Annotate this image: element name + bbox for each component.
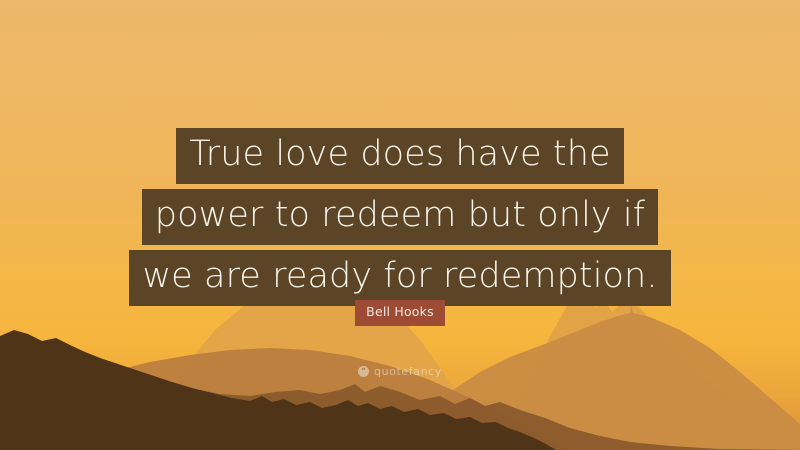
quote-line-1: True love does have the — [176, 128, 623, 184]
quote-text-block: True love does have the power to redeem … — [0, 128, 800, 306]
watermark-brand-text: quotefancy — [374, 366, 442, 377]
quotefancy-watermark: “ quotefancy — [0, 366, 800, 377]
author-name-badge: Bell Hooks — [355, 300, 445, 326]
quote-line-2: power to redeem but only if — [142, 189, 658, 245]
quote-mark-circle-icon: “ — [358, 366, 369, 377]
quote-line-3: we are ready for redemption. — [129, 250, 670, 306]
quote-wallpaper: True love does have the power to redeem … — [0, 0, 800, 450]
author-attribution: Bell Hooks — [0, 300, 800, 326]
quote-mark-glyph: “ — [361, 367, 366, 375]
